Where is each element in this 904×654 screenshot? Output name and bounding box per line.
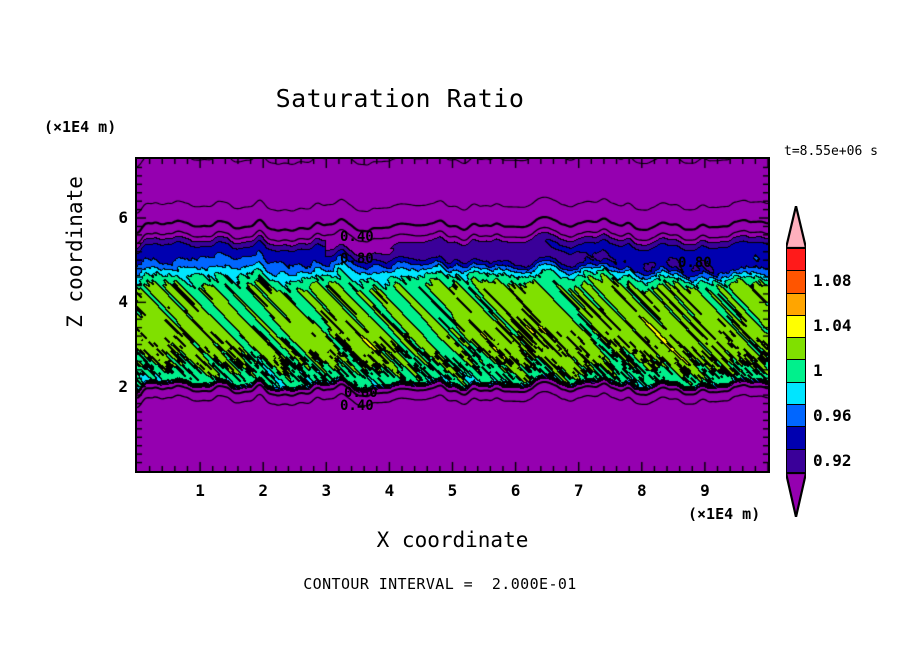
- x-tick-label: 8: [627, 481, 657, 500]
- x-tick-label: 2: [248, 481, 278, 500]
- time-annotation: t=8.55e+06 s: [784, 144, 878, 159]
- contour-interval-caption: CONTOUR INTERVAL = 2.000E-01: [0, 575, 880, 593]
- colorbar-tick-label: 0.96: [813, 406, 852, 425]
- x-axis-title: X coordinate: [135, 528, 770, 552]
- x-tick-label: 5: [438, 481, 468, 500]
- x-axis-unit-label: (×1E4 m): [688, 505, 760, 523]
- colorbar-band: [787, 294, 805, 316]
- x-tick-label: 4: [374, 481, 404, 500]
- colorbar-band: [787, 383, 805, 405]
- z-axis-title: Z coordinate: [63, 152, 87, 352]
- contour-field-canvas: [137, 159, 768, 471]
- contour-label: 0.80: [678, 255, 712, 271]
- x-tick-label: 9: [690, 481, 720, 500]
- contour-label: 0.80: [340, 251, 374, 267]
- colorbar-band: [787, 360, 805, 382]
- colorbar-band: [787, 249, 805, 271]
- colorbar-tick-label: 1.08: [813, 271, 852, 290]
- z-tick-label: 6: [104, 208, 128, 227]
- x-tick-label: 1: [185, 481, 215, 500]
- colorbar-over-range-outline: [786, 206, 806, 248]
- colorbar-tick-label: 0.92: [813, 451, 852, 470]
- colorbar-band: [787, 271, 805, 293]
- colorbar-band: [787, 450, 805, 472]
- z-tick-label: 4: [104, 292, 128, 311]
- x-tick-label: 7: [564, 481, 594, 500]
- contour-label: 0.40: [340, 229, 374, 245]
- z-axis-unit-label: (×1E4 m): [44, 118, 116, 136]
- x-tick-label: 3: [311, 481, 341, 500]
- contour-plot-area: [135, 157, 770, 473]
- colorbar: 1.081.0410.960.92: [783, 206, 809, 516]
- colorbar-band: [787, 405, 805, 427]
- z-tick-label: 2: [104, 377, 128, 396]
- contour-label: 0.40: [340, 398, 374, 414]
- colorbar-band: [787, 338, 805, 360]
- page-title: Saturation Ratio: [0, 84, 800, 113]
- colorbar-tick-label: 1: [813, 361, 823, 380]
- colorbar-band: [787, 316, 805, 338]
- colorbar-band: [787, 427, 805, 449]
- colorbar-bands: [786, 248, 806, 473]
- colorbar-under-range-outline: [786, 473, 806, 517]
- colorbar-tick-label: 1.04: [813, 316, 852, 335]
- x-tick-label: 6: [501, 481, 531, 500]
